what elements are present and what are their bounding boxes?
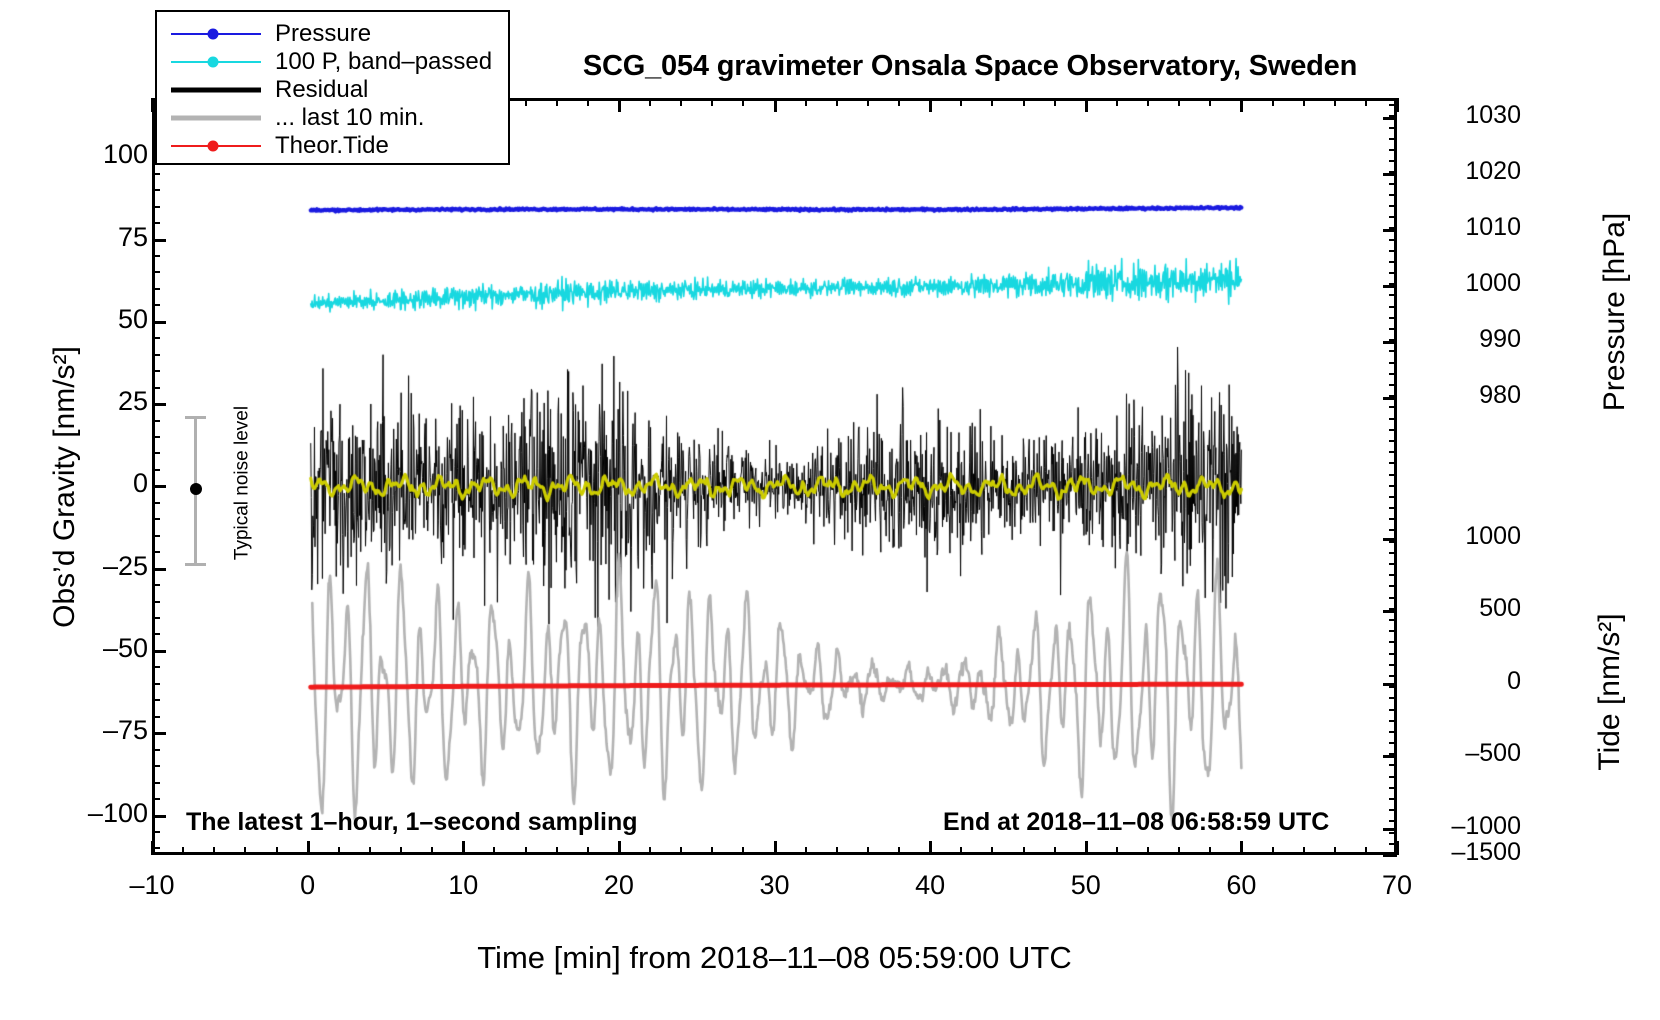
y-tick-left — [152, 765, 160, 767]
y-tick-label-pressure: 1000 — [1417, 269, 1521, 298]
y-tick-right-minor — [1389, 239, 1397, 241]
x-tick-top — [1272, 98, 1274, 106]
y-tick-right-minor — [1389, 764, 1397, 766]
y-tick-right-major — [1383, 755, 1397, 758]
y-tick-right-minor — [1389, 787, 1397, 789]
y-tick-right-minor — [1389, 429, 1397, 431]
y-tick-label-pressure: 1030 — [1417, 101, 1521, 130]
y-tick-label-pressure: 1020 — [1417, 157, 1521, 186]
y-tick-right-major — [1383, 173, 1397, 176]
legend-label: Pressure — [275, 22, 371, 46]
y-tick-right-minor — [1389, 205, 1397, 207]
y-axis-label-right-tide: Tide [nm/s²] — [1593, 462, 1627, 922]
y-tick-right-major — [1383, 683, 1397, 686]
y-tick-right-minor — [1389, 485, 1397, 487]
y-tick-label-left: –25 — [103, 551, 148, 582]
legend-item-4[interactable]: Theor.Tide — [157, 132, 508, 160]
x-tick — [1054, 847, 1056, 855]
x-tick-top — [587, 98, 589, 106]
y-tick-left — [152, 650, 166, 653]
x-tick-top — [836, 98, 838, 106]
x-tick-top — [1303, 98, 1305, 106]
y-tick-right-minor — [1389, 731, 1397, 733]
x-axis-label: Time [min] from 2018–11–08 05:59:00 UTC — [152, 940, 1397, 976]
x-tick — [991, 847, 993, 855]
y-tick-right-minor — [1389, 820, 1397, 822]
y-tick-right-minor — [1389, 653, 1397, 655]
y-tick-left — [152, 732, 166, 735]
y-tick-left — [152, 271, 160, 273]
y-tick-right-minor — [1389, 127, 1397, 129]
legend-swatch-icon — [171, 108, 261, 128]
y-tick-left — [152, 749, 160, 751]
x-tick-label: 30 — [720, 870, 830, 901]
y-tick-right-minor — [1389, 720, 1397, 722]
y-tick-left — [152, 304, 160, 306]
y-tick-left — [152, 831, 160, 833]
x-tick-top — [1023, 98, 1025, 106]
x-tick-top — [1334, 98, 1336, 106]
noise-level-label: Typical noise level — [232, 396, 254, 571]
y-tick-left — [152, 469, 160, 471]
noise-cap-top — [185, 416, 206, 419]
y-tick-right-minor — [1389, 451, 1397, 453]
y-tick-right-minor — [1389, 160, 1397, 162]
page-title: SCG_054 gravimeter Onsala Space Observat… — [430, 50, 1510, 83]
y-tick-right-minor — [1389, 574, 1397, 576]
x-tick — [1023, 847, 1025, 855]
x-tick-top — [1085, 98, 1088, 112]
legend-label: ... last 10 min. — [275, 106, 424, 130]
x-tick-label: –10 — [97, 870, 207, 901]
x-tick-top — [649, 98, 651, 106]
x-tick-top — [680, 98, 682, 106]
y-tick-label-left: 75 — [118, 222, 148, 253]
x-tick — [805, 847, 807, 855]
legend: Pressure100 P, band–passedResidual... la… — [155, 10, 510, 165]
y-tick-right-minor — [1389, 552, 1397, 554]
y-tick-left — [152, 798, 160, 800]
y-tick-left — [152, 403, 166, 406]
x-tick-top — [1054, 98, 1056, 106]
chart-root: SCG_054 gravimeter Onsala Space Observat… — [0, 0, 1660, 1020]
y-tick-right-minor — [1389, 462, 1397, 464]
x-tick-top — [151, 98, 154, 112]
y-tick-left — [152, 847, 160, 849]
x-tick-top — [991, 98, 993, 106]
y-tick-right-minor — [1389, 686, 1397, 688]
y-tick-label-left: –75 — [103, 715, 148, 746]
x-tick — [1085, 841, 1088, 855]
x-tick — [774, 841, 777, 855]
x-tick-top — [711, 98, 713, 106]
y-tick-left — [152, 666, 160, 668]
y-tick-left — [152, 551, 160, 553]
x-tick — [1209, 847, 1211, 855]
y-tick-label-tide: –1500 — [1417, 838, 1521, 867]
y-tick-right-minor — [1389, 585, 1397, 587]
y-tick-left — [152, 387, 160, 389]
x-tick — [1365, 847, 1367, 855]
legend-swatch-icon — [171, 80, 261, 100]
legend-item-3[interactable]: ... last 10 min. — [157, 104, 508, 132]
y-tick-right-minor — [1389, 350, 1397, 352]
x-tick — [556, 847, 558, 855]
x-tick-top — [1116, 98, 1118, 106]
x-tick — [960, 847, 962, 855]
x-tick-top — [898, 98, 900, 106]
x-tick-top — [742, 98, 744, 106]
x-tick — [618, 841, 621, 855]
y-tick-right-minor — [1389, 709, 1397, 711]
legend-label: Residual — [275, 78, 368, 102]
y-tick-right-minor — [1389, 104, 1397, 106]
y-tick-left — [152, 568, 166, 571]
legend-item-0[interactable]: Pressure — [157, 20, 508, 48]
x-tick — [525, 847, 527, 855]
x-tick-top — [1147, 98, 1149, 106]
x-tick — [400, 847, 402, 855]
x-tick — [742, 847, 744, 855]
y-tick-right-minor — [1389, 697, 1397, 699]
legend-marker-dot — [208, 57, 219, 68]
y-tick-left — [152, 206, 160, 208]
x-tick — [587, 847, 589, 855]
y-tick-right-minor — [1389, 518, 1397, 520]
x-tick-top — [525, 98, 527, 106]
x-tick — [276, 847, 278, 855]
y-tick-right-minor — [1389, 675, 1397, 677]
y-tick-right-minor — [1389, 272, 1397, 274]
y-tick-left — [152, 485, 166, 488]
x-tick — [1116, 847, 1118, 855]
x-tick-label: 0 — [253, 870, 363, 901]
x-tick — [898, 847, 900, 855]
x-tick-top — [1240, 98, 1243, 112]
y-tick-left — [152, 354, 160, 356]
legend-marker-dot — [208, 141, 219, 152]
legend-line — [171, 88, 261, 93]
y-tick-right-minor — [1389, 138, 1397, 140]
x-tick — [649, 847, 651, 855]
y-tick-right-minor — [1389, 418, 1397, 420]
y-tick-right-major — [1383, 854, 1397, 857]
y-tick-left — [152, 222, 160, 224]
y-tick-label-pressure: 980 — [1417, 381, 1521, 410]
y-tick-label-pressure: 1010 — [1417, 213, 1521, 242]
y-tick-right-minor — [1389, 194, 1397, 196]
x-tick — [431, 847, 433, 855]
y-tick-left — [152, 288, 160, 290]
x-tick — [1240, 841, 1243, 855]
typical-noise-level-annotation: Typical noise level — [180, 410, 240, 575]
y-tick-left — [152, 518, 160, 520]
y-tick-label-left: 25 — [118, 386, 148, 417]
end-time-note: End at 2018–11–08 06:58:59 UTC — [943, 808, 1329, 837]
y-tick-label-tide: –500 — [1417, 739, 1521, 768]
y-tick-label-left: –50 — [103, 633, 148, 664]
y-axis-label-left: Obs’d Gravity [nm/s²] — [48, 227, 82, 747]
y-tick-right-minor — [1389, 809, 1397, 811]
y-tick-left — [152, 189, 160, 191]
x-tick-label: 50 — [1031, 870, 1141, 901]
y-tick-right-minor — [1389, 317, 1397, 319]
noise-center-dot — [190, 483, 202, 495]
x-tick — [1178, 847, 1180, 855]
y-tick-right-minor — [1389, 641, 1397, 643]
x-tick-top — [774, 98, 777, 112]
y-tick-right-minor — [1389, 597, 1397, 599]
x-tick — [493, 847, 495, 855]
x-tick — [369, 847, 371, 855]
y-tick-left — [152, 633, 160, 635]
y-tick-right-minor — [1389, 742, 1397, 744]
legend-item-2[interactable]: Residual — [157, 76, 508, 104]
y-tick-right-minor — [1389, 507, 1397, 509]
x-tick-top — [618, 98, 621, 112]
y-tick-right-minor — [1389, 328, 1397, 330]
x-tick — [929, 841, 932, 855]
noise-cap-bottom — [185, 563, 206, 566]
x-tick-top — [556, 98, 558, 106]
y-tick-right-minor — [1389, 261, 1397, 263]
y-tick-left — [152, 601, 160, 603]
y-tick-right-minor — [1389, 216, 1397, 218]
y-tick-label-left: 0 — [133, 468, 148, 499]
y-tick-label-left: 100 — [103, 139, 148, 170]
data-traces-canvas — [155, 101, 1394, 852]
x-tick-top — [1209, 98, 1211, 106]
x-tick — [244, 847, 246, 855]
legend-swatch-icon — [171, 24, 261, 44]
y-tick-left — [152, 617, 160, 619]
y-tick-right-minor — [1389, 362, 1397, 364]
y-tick-right-minor — [1389, 149, 1397, 151]
y-tick-right-minor — [1389, 798, 1397, 800]
legend-label: 100 P, band–passed — [275, 50, 492, 74]
y-tick-right-major — [1383, 285, 1397, 288]
legend-item-1[interactable]: 100 P, band–passed — [157, 48, 508, 76]
y-tick-right-minor — [1389, 373, 1397, 375]
y-tick-label-left: –100 — [88, 798, 148, 829]
y-tick-left — [152, 815, 166, 818]
y-tick-right-minor — [1389, 630, 1397, 632]
legend-swatch-icon — [171, 136, 261, 156]
x-tick — [836, 847, 838, 855]
y-tick-right-minor — [1389, 474, 1397, 476]
y-tick-left — [152, 370, 160, 372]
x-tick — [1147, 847, 1149, 855]
x-tick-top — [960, 98, 962, 106]
x-tick — [680, 847, 682, 855]
y-tick-right-minor — [1389, 406, 1397, 408]
y-tick-left — [152, 452, 160, 454]
y-tick-right-minor — [1389, 619, 1397, 621]
y-tick-label-left: 50 — [118, 304, 148, 335]
x-tick-top — [867, 98, 869, 106]
y-tick-label-tide: 0 — [1417, 667, 1521, 696]
y-tick-right-major — [1383, 229, 1397, 232]
y-tick-right-minor — [1389, 294, 1397, 296]
y-tick-right-minor — [1389, 664, 1397, 666]
x-tick — [867, 847, 869, 855]
x-tick — [1334, 847, 1336, 855]
x-tick-label: 20 — [564, 870, 674, 901]
legend-marker-dot — [208, 29, 219, 40]
y-tick-right-minor — [1389, 832, 1397, 834]
y-tick-left — [152, 420, 160, 422]
y-tick-right-minor — [1389, 776, 1397, 778]
x-tick-label: 70 — [1342, 870, 1452, 901]
x-tick-label: 60 — [1186, 870, 1296, 901]
y-tick-left — [152, 535, 160, 537]
y-tick-right-minor — [1389, 384, 1397, 386]
y-tick-right-major — [1383, 610, 1397, 613]
y-tick-right-major — [1383, 397, 1397, 400]
y-tick-left — [152, 699, 160, 701]
y-tick-left — [152, 321, 166, 324]
y-tick-label-pressure: 990 — [1417, 325, 1521, 354]
y-tick-left — [152, 255, 160, 257]
y-tick-left — [152, 716, 160, 718]
x-tick — [307, 841, 310, 855]
legend-label: Theor.Tide — [275, 134, 389, 158]
x-tick-top — [805, 98, 807, 106]
x-tick — [462, 841, 465, 855]
y-tick-right-minor — [1389, 563, 1397, 565]
y-tick-label-tide: 500 — [1417, 594, 1521, 623]
legend-swatch-icon — [171, 52, 261, 72]
y-tick-label-tide: –1000 — [1417, 812, 1521, 841]
y-tick-right-minor — [1389, 440, 1397, 442]
x-tick — [338, 847, 340, 855]
x-tick — [213, 847, 215, 855]
x-tick — [1303, 847, 1305, 855]
y-tick-right-major — [1383, 341, 1397, 344]
y-tick-right-minor — [1389, 843, 1397, 845]
y-tick-left — [152, 584, 160, 586]
y-tick-left — [152, 337, 160, 339]
x-tick — [1272, 847, 1274, 855]
y-tick-left — [152, 502, 160, 504]
y-tick-right-minor — [1389, 306, 1397, 308]
y-tick-right-minor — [1389, 250, 1397, 252]
y-tick-label-tide: 1000 — [1417, 522, 1521, 551]
y-tick-right-minor — [1389, 183, 1397, 185]
x-tick-top — [1178, 98, 1180, 106]
y-tick-left — [152, 683, 160, 685]
y-tick-right-major — [1383, 117, 1397, 120]
y-tick-left — [152, 173, 160, 175]
x-tick-label: 40 — [875, 870, 985, 901]
x-tick-top — [929, 98, 932, 112]
x-tick-label: 10 — [408, 870, 518, 901]
sampling-note: The latest 1–hour, 1–second sampling — [186, 808, 638, 837]
y-tick-right-minor — [1389, 529, 1397, 531]
y-tick-left — [152, 782, 160, 784]
x-tick — [182, 847, 184, 855]
y-tick-left — [152, 239, 166, 242]
y-tick-right-major — [1383, 828, 1397, 831]
y-tick-right-minor — [1389, 496, 1397, 498]
y-tick-left — [152, 436, 160, 438]
x-tick-top — [1365, 98, 1367, 106]
y-tick-right-major — [1383, 538, 1397, 541]
x-tick — [711, 847, 713, 855]
legend-line — [171, 116, 261, 121]
